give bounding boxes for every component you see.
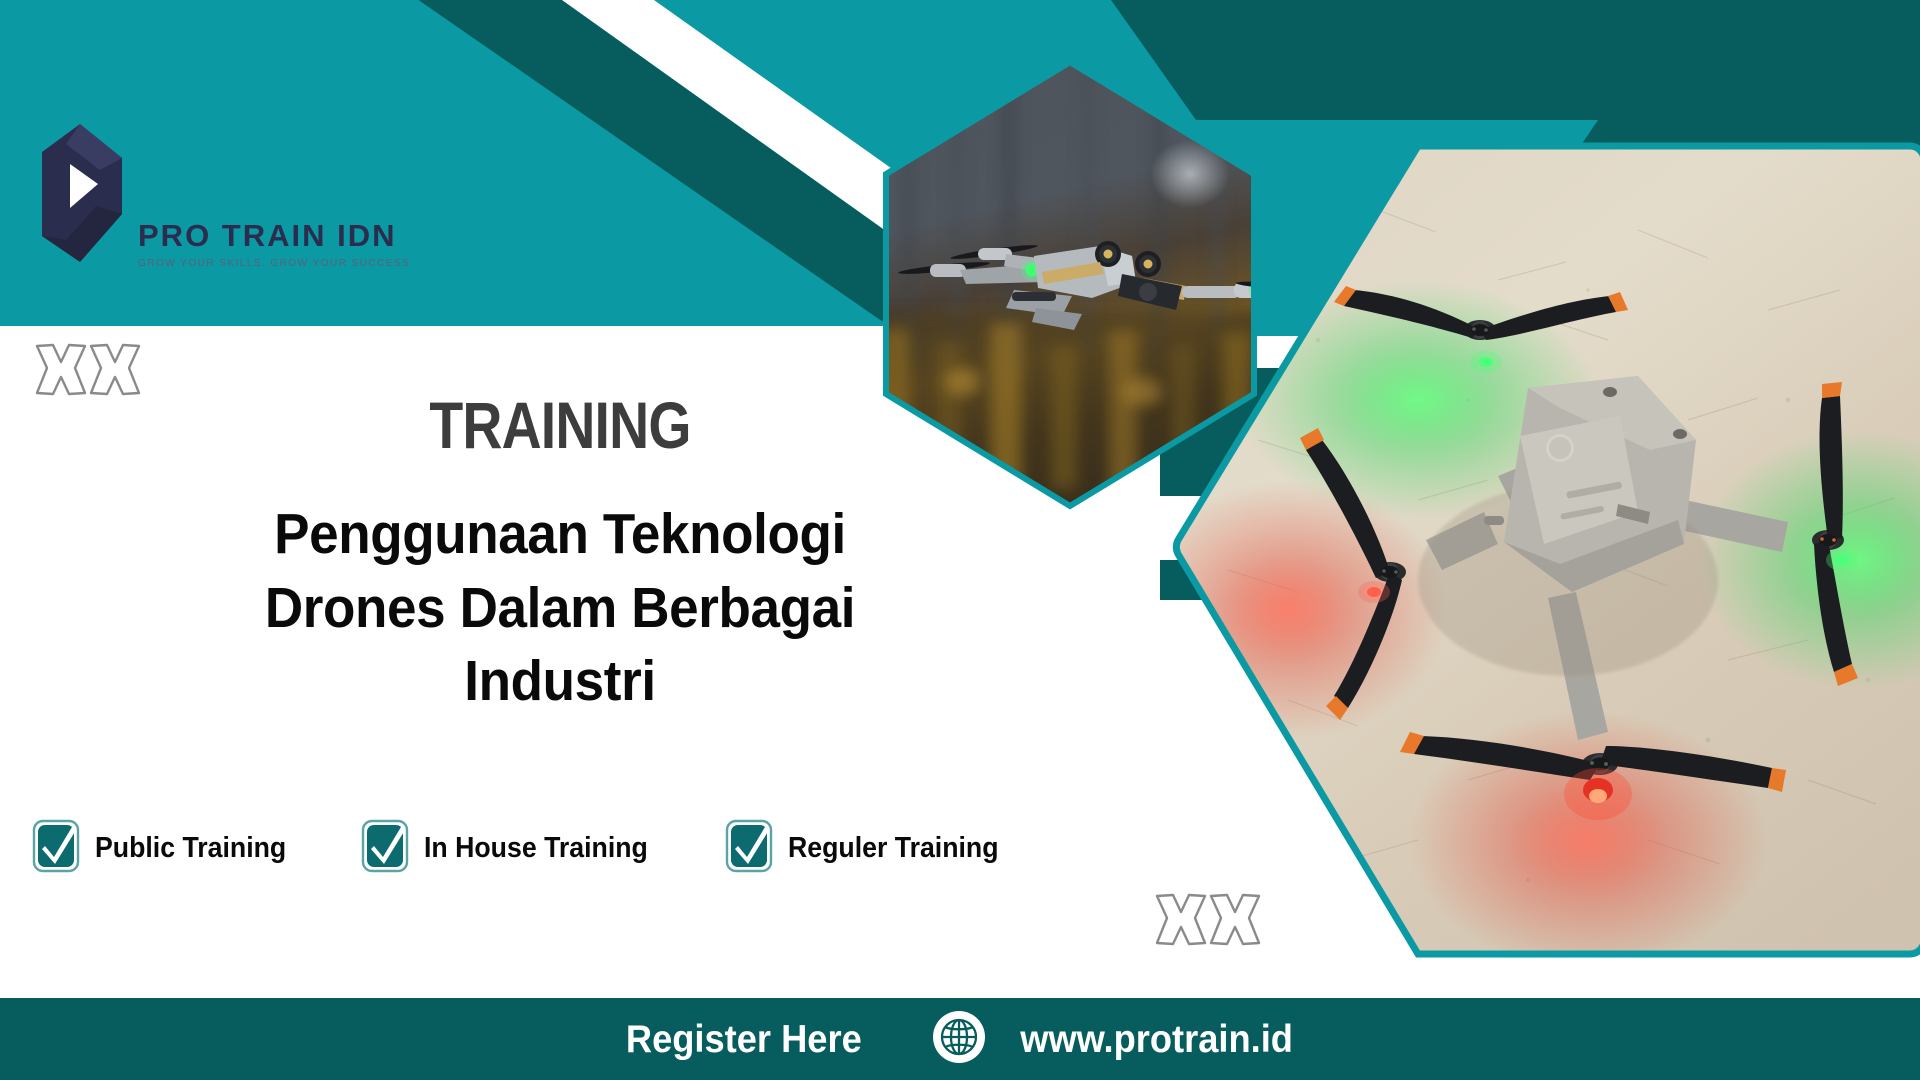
eyebrow-training: TRAINING [90,392,1031,458]
logo-tagline: GROW YOUR SKILLS. GROW YOUR SUCCESS [138,259,410,269]
training-option-label: In House Training [424,834,648,863]
logo-name: PRO TRAIN IDN [138,220,410,251]
website-link[interactable]: www.protrain.id [932,1010,1303,1069]
brand-logo: PRO TRAIN IDN GROW YOUR SKILLS. GROW YOU… [36,118,376,273]
headline-line-1: Penggunaan Teknologi [142,498,979,572]
register-here-label[interactable]: Register Here [625,1020,861,1059]
page-title: Penggunaan Teknologi Drones Dalam Berbag… [142,498,979,719]
checkbox-checked-icon[interactable] [361,818,411,879]
website-url[interactable]: www.protrain.id [1020,1020,1293,1059]
training-option-public[interactable]: Public Training [32,818,303,879]
headline-line-3: Industri [142,645,979,719]
globe-icon [932,1010,986,1069]
headline-line-2: Drones Dalam Berbagai [142,572,979,646]
training-options-list: Public Training In House Training Re [32,818,1017,879]
x-mark-decoration-right [1148,890,1266,957]
training-option-label: Reguler Training [788,834,999,863]
promotional-poster: PRO TRAIN IDN GROW YOUR SKILLS. GROW YOU… [0,0,1920,1080]
checkbox-checked-icon[interactable] [32,818,82,879]
training-option-in-house[interactable]: In House Training [361,818,667,879]
training-option-label: Public Training [95,834,286,863]
checkbox-checked-icon[interactable] [725,818,775,879]
footer-bar: Register Here www.protrain.id [0,998,1920,1080]
drone-on-floor-hexagon [1128,140,1920,970]
chevron-logo-mark-icon [36,118,128,273]
training-option-reguler[interactable]: Reguler Training [725,818,1017,879]
